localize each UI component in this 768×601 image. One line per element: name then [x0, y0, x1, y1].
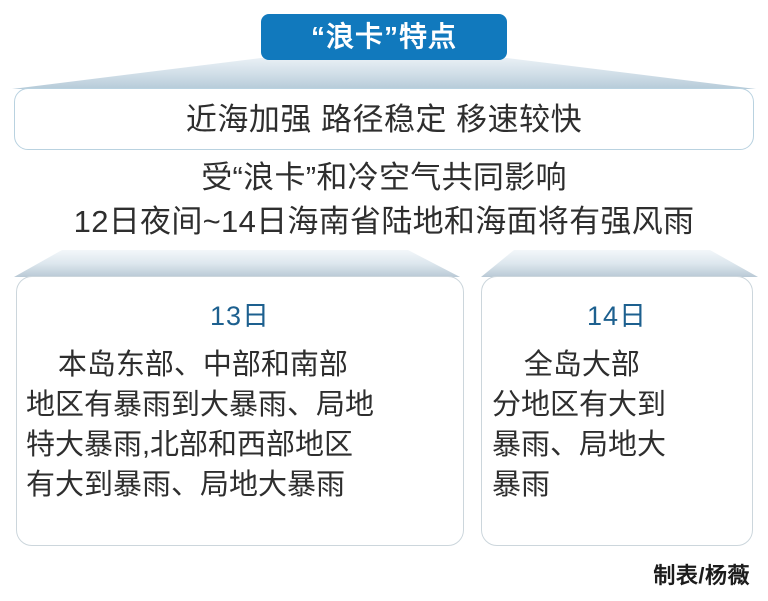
forecast-card-day-13: 13日 本岛东部、中部和南部 地区有暴雨到大暴雨、局地 特大暴雨,北部和西部地区… [16, 276, 464, 546]
forecast-card-line: 暴雨 [492, 465, 746, 505]
impact-statement-block: 受“浪卡”和冷空气共同影响 12日夜间~14日海南省陆地和海面将有强风雨 [0, 156, 768, 244]
forecast-card-line: 有大到暴雨、局地大暴雨 [26, 465, 457, 505]
impact-statement-line: 受“浪卡”和冷空气共同影响 [0, 156, 768, 200]
forecast-card-day-14: 14日 全岛大部 分地区有大到 暴雨、局地大 暴雨 [481, 276, 753, 546]
forecast-card-title: 13日 [17, 303, 463, 330]
forecast-card-line: 地区有暴雨到大暴雨、局地 [26, 385, 457, 425]
forecast-card-line: 本岛东部、中部和南部 [26, 345, 457, 385]
summary-box: 近海加强 路径稳定 移速较快 [14, 88, 754, 150]
forecast-card-line: 特大暴雨,北部和西部地区 [26, 425, 457, 465]
forecast-card-body: 全岛大部 分地区有大到 暴雨、局地大 暴雨 [482, 345, 752, 505]
header-banner-label: “浪卡”特点 [311, 23, 457, 51]
impact-statement-line: 12日夜间~14日海南省陆地和海面将有强风雨 [0, 200, 768, 244]
header-banner: “浪卡”特点 [261, 14, 507, 60]
forecast-card-line: 全岛大部 [492, 345, 746, 385]
forecast-card-title: 14日 [482, 303, 752, 330]
forecast-card-line: 分地区有大到 [492, 385, 746, 425]
forecast-card-line: 暴雨、局地大 [492, 425, 746, 465]
banner-fan-connector [0, 58, 768, 92]
forecast-card-body: 本岛东部、中部和南部 地区有暴雨到大暴雨、局地 特大暴雨,北部和西部地区 有大到… [17, 345, 463, 505]
summary-text: 近海加强 路径稳定 移速较快 [186, 104, 582, 135]
credit-text: 制表/杨薇 [653, 558, 750, 590]
